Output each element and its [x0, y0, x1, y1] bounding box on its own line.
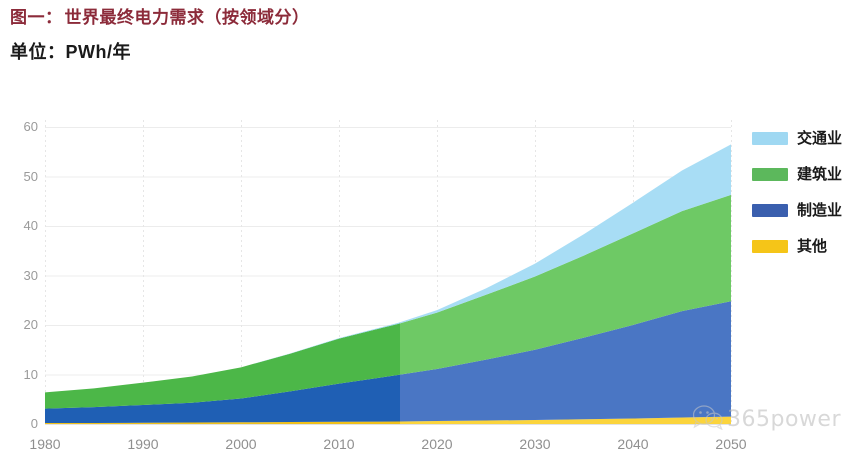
chart-area: 0102030405060 19801990200020102020203020… — [0, 0, 856, 473]
legend-label-manufacturing: 制造业 — [797, 203, 842, 218]
x-axis-tick-label: 2000 — [211, 437, 271, 451]
y-axis-tick-label: 10 — [8, 368, 38, 381]
legend-swatch-buildings — [752, 168, 788, 181]
y-axis-tick-label: 0 — [8, 417, 38, 430]
x-axis-tick-label: 2040 — [603, 437, 663, 451]
x-axis-tick-label: 2050 — [701, 437, 761, 451]
legend-item-other[interactable]: 其他 — [752, 228, 852, 264]
stacked-area-chart — [0, 0, 856, 473]
legend-swatch-manufacturing — [752, 204, 788, 217]
legend-label-transport: 交通业 — [797, 131, 842, 146]
y-axis-tick-label: 20 — [8, 318, 38, 331]
x-axis-tick-label: 2010 — [309, 437, 369, 451]
y-axis-tick-label: 30 — [8, 269, 38, 282]
figure-root: 图一： 世界最终电力需求（按领域分） 单位：PWh/年 010203040506… — [0, 0, 856, 473]
x-axis-tick-label: 2020 — [407, 437, 467, 451]
legend-item-buildings[interactable]: 建筑业 — [752, 156, 852, 192]
y-axis-tick-label: 40 — [8, 219, 38, 232]
chart-legend: 交通业 建筑业 制造业 其他 — [752, 120, 852, 264]
legend-label-buildings: 建筑业 — [797, 167, 842, 182]
legend-swatch-transport — [752, 132, 788, 145]
x-axis-tick-label: 2030 — [505, 437, 565, 451]
legend-item-manufacturing[interactable]: 制造业 — [752, 192, 852, 228]
y-axis-tick-label: 50 — [8, 170, 38, 183]
x-axis-tick-label: 1990 — [113, 437, 173, 451]
legend-swatch-other — [752, 240, 788, 253]
legend-label-other: 其他 — [797, 239, 827, 254]
x-axis-tick-label: 1980 — [15, 437, 75, 451]
legend-item-transport[interactable]: 交通业 — [752, 120, 852, 156]
y-axis-tick-label: 60 — [8, 120, 38, 133]
